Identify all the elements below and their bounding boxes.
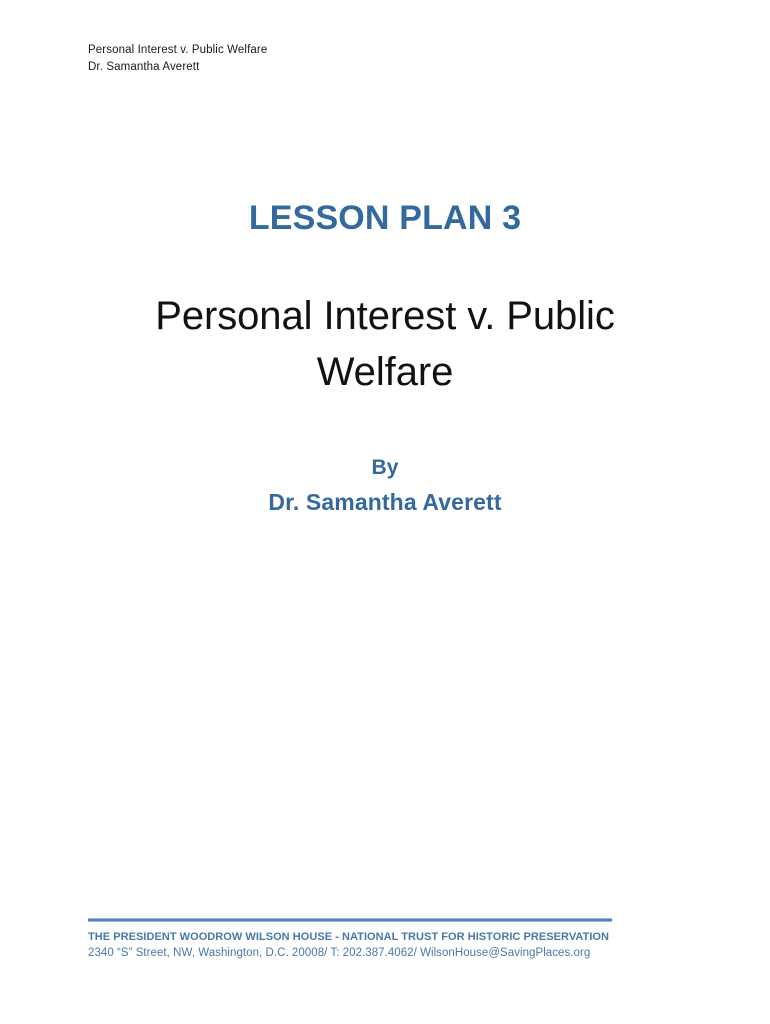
byline-author-name: Dr. Samantha Averett xyxy=(88,485,682,520)
footer-divider xyxy=(88,918,612,922)
running-header-author: Dr. Samantha Averett xyxy=(88,59,648,76)
footer-organization: THE PRESIDENT WOODROW WILSON HOUSE - NAT… xyxy=(88,929,612,945)
lesson-plan-heading: LESSON PLAN 3 xyxy=(88,196,682,240)
cover-title-block: LESSON PLAN 3 Personal Interest v. Publi… xyxy=(88,196,682,520)
document-footer: THE PRESIDENT WOODROW WILSON HOUSE - NAT… xyxy=(88,918,612,962)
footer-contact: 2340 “S” Street, NW, Washington, D.C. 20… xyxy=(88,945,612,962)
running-header-title: Personal Interest v. Public Welfare xyxy=(88,42,648,59)
byline-by-label: By xyxy=(88,450,682,485)
byline-block: By Dr. Samantha Averett xyxy=(88,450,682,520)
document-page: Personal Interest v. Public Welfare Dr. … xyxy=(0,0,770,1024)
running-header: Personal Interest v. Public Welfare Dr. … xyxy=(88,42,648,76)
page-title: Personal Interest v. Public Welfare xyxy=(88,288,682,400)
